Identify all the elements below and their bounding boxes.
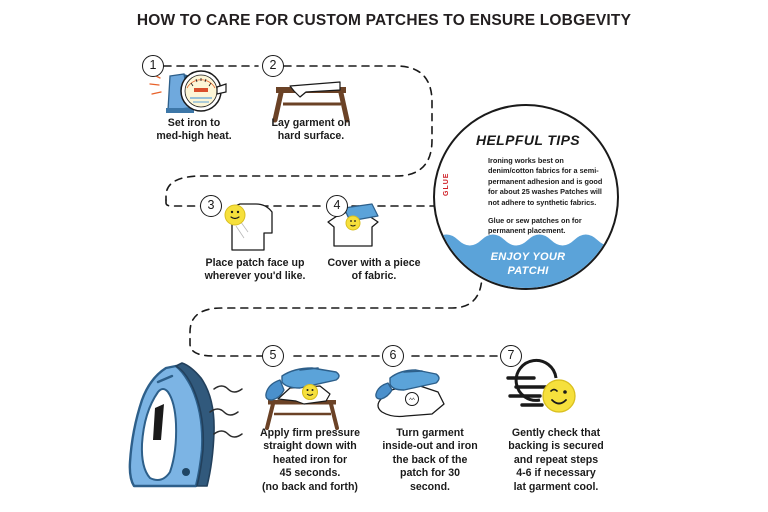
step-caption-2: Lay garment on hard surface.: [253, 117, 369, 144]
step-badge-2[interactable]: 2: [262, 55, 284, 77]
iron-on-inside-out-garment-icon: ^^: [376, 370, 444, 417]
winking-smiley-speed-lines-icon: [508, 360, 575, 412]
step-badge-5[interactable]: 5: [262, 345, 284, 367]
step-caption-3: Place patch face up wherever you'd like.: [192, 257, 318, 284]
iron-pressing-on-table-icon: [266, 368, 339, 428]
step-caption-4: Cover with a piece of fabric.: [315, 257, 433, 284]
tips-paragraph-1: Ironing works best on denim/cotton fabri…: [488, 156, 610, 208]
glue-bottle-label: GLUE: [443, 173, 450, 196]
step-badge-6[interactable]: 6: [382, 345, 404, 367]
step-badge-3[interactable]: 3: [200, 195, 222, 217]
helpful-tips-heading: HELPFUL TIPS: [435, 132, 619, 148]
helpful-tips-panel: HELPFUL TIPS Ironing works best on denim…: [433, 104, 619, 290]
page-title: HOW TO CARE FOR CUSTOM PATCHES TO ENSURE…: [0, 12, 768, 30]
step-caption-6: Turn garment inside-out and iron the bac…: [372, 427, 488, 494]
step-caption-5: Apply firm pressure straight down with h…: [248, 427, 372, 494]
iron-with-temperature-dial-icon: [150, 71, 226, 113]
step-badge-7[interactable]: 7: [500, 345, 522, 367]
large-steaming-iron-icon: [130, 363, 242, 486]
sawhorse-table-with-garment-icon: [275, 82, 347, 120]
step-caption-1: Set iron to med-high heat.: [136, 117, 252, 144]
shirt-with-smiley-patch-icon: [225, 204, 272, 250]
step-caption-7: Gently check that backing is secured and…: [492, 427, 620, 494]
step-badge-1[interactable]: 1: [142, 55, 164, 77]
step-badge-4[interactable]: 4: [326, 195, 348, 217]
infographic-canvas: HOW TO CARE FOR CUSTOM PATCHES TO ENSURE…: [0, 0, 768, 512]
svg-text:^^: ^^: [409, 398, 415, 404]
enjoy-your-patch-banner: ENJOY YOUR PATCHI: [435, 250, 619, 278]
